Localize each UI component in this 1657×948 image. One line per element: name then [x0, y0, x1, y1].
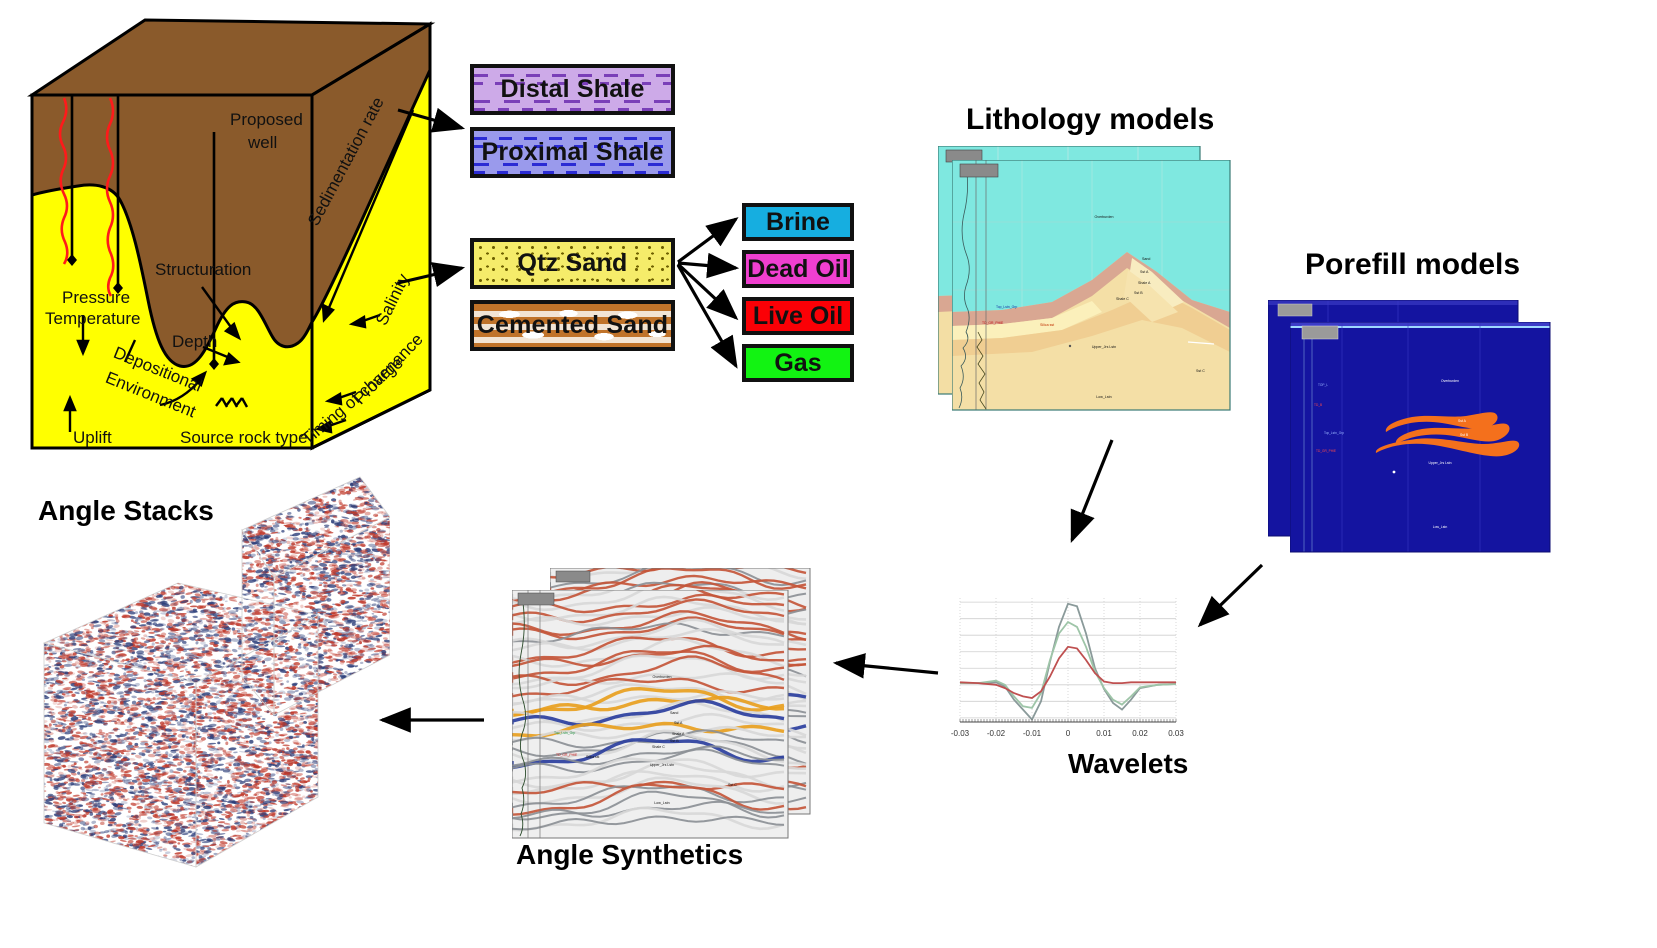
caption-wavelets: Wavelets: [1068, 748, 1188, 780]
svg-text:Sst C: Sst C: [1196, 369, 1205, 373]
svg-text:TD_GR_PHIE: TD_GR_PHIE: [1316, 449, 1336, 453]
caption-lithology-models: Lithology models: [966, 103, 1214, 137]
angle-synthetics-front: Overburden Sand Sst A Shale A Sst B Shal…: [512, 590, 812, 860]
svg-text:Low_Lstn: Low_Lstn: [1433, 525, 1448, 529]
svg-text:Sand: Sand: [670, 711, 678, 715]
wavelets-chart[interactable]: -0.03-0.02-0.0100.010.020.03: [948, 590, 1188, 755]
facies-label-cemented-sand: Cemented Sand: [477, 311, 669, 340]
facies-label-qtz-sand: Qtz Sand: [518, 249, 628, 278]
facies-label-distal-shale: Distal Shale: [500, 75, 644, 104]
arrow-block-to-shales: [398, 110, 462, 128]
svg-text:Upper_Jrs Lstn: Upper_Jrs Lstn: [1429, 461, 1452, 465]
arrow-sand-to-gas: [678, 265, 736, 366]
svg-text:TD_GR_PHIE: TD_GR_PHIE: [556, 753, 578, 757]
arrow-sand-to-live-oil: [678, 264, 736, 318]
wavelets-tick-0: -0.03: [951, 729, 970, 738]
svg-text:Sst C: Sst C: [728, 783, 737, 787]
svg-text:Sand: Sand: [1142, 257, 1150, 261]
svg-text:Overburden: Overburden: [1441, 379, 1459, 383]
arrow-sand-to-dead-oil: [678, 263, 736, 268]
svg-text:Upper_Jrs Lstn: Upper_Jrs Lstn: [650, 763, 674, 767]
svg-text:Top_Lstn_Grp: Top_Lstn_Grp: [1324, 431, 1344, 435]
arrow-sand-to-brine: [678, 219, 736, 262]
svg-text:TD_B: TD_B: [1314, 403, 1322, 407]
svg-text:Top_Lstn_Grp: Top_Lstn_Grp: [996, 305, 1017, 309]
wavelets-tick-1: -0.02: [987, 729, 1006, 738]
svg-text:Sst A: Sst A: [1458, 419, 1467, 423]
wavelets-tick-5: 0.02: [1132, 729, 1148, 738]
svg-text:Top_Lstn_Grp: Top_Lstn_Grp: [554, 731, 575, 735]
svg-text:Silica sst: Silica sst: [1040, 323, 1054, 327]
svg-text:Sst B: Sst B: [1460, 433, 1469, 437]
wavelets-tick-3: 0: [1066, 729, 1071, 738]
svg-text:Sst A: Sst A: [674, 721, 683, 725]
wavelets-tick-2: -0.01: [1023, 729, 1042, 738]
arrow-lithology-to-wavelets: [1072, 440, 1112, 540]
svg-text:Sst B: Sst B: [670, 739, 679, 743]
svg-text:Shale C: Shale C: [652, 745, 665, 749]
facies-label-proximal-shale: Proximal Shale: [481, 138, 663, 167]
svg-text:Overburden: Overburden: [1095, 215, 1114, 219]
lithology-panel-front: Overburden Sand Sst A Shale A Sst B Shal…: [952, 160, 1252, 430]
angle-stacks-svg: [30, 455, 390, 895]
svg-text:Low_Lstn: Low_Lstn: [1096, 395, 1111, 399]
arrow-porefill-to-wavelets: [1200, 565, 1262, 625]
wavelets-tick-6: 0.03: [1168, 729, 1184, 738]
porefill-panel-front: Overburden Sst A Sst B Upper_Jrs Lstn Lo…: [1290, 322, 1580, 582]
angle-stacks-cubes[interactable]: [30, 455, 390, 900]
svg-text:Shale A: Shale A: [672, 732, 685, 736]
wavelets-tick-4: 0.01: [1096, 729, 1112, 738]
arrow-wavelets-to-synthetics: [836, 663, 938, 673]
caption-porefill-models: Porefill models: [1305, 248, 1520, 282]
svg-text:TD_GR_PHIE: TD_GR_PHIE: [982, 321, 1004, 325]
svg-text:Low_Lstn: Low_Lstn: [654, 801, 669, 805]
svg-text:Sst B: Sst B: [1134, 291, 1143, 295]
workflow-diagram: Proposed well Sedimentation rate Salinit…: [0, 0, 1657, 948]
svg-text:Upper_Jrs Lstn: Upper_Jrs Lstn: [1092, 345, 1116, 349]
svg-text:Silica sst: Silica sst: [586, 755, 599, 759]
wavelets-plot: -0.03-0.02-0.0100.010.020.03: [948, 590, 1188, 750]
svg-text:Sst A: Sst A: [1140, 270, 1149, 274]
arrow-block-to-sands: [398, 268, 462, 283]
svg-text:TOP_L: TOP_L: [1318, 383, 1328, 387]
svg-text:Shale A: Shale A: [1138, 281, 1151, 285]
svg-text:Shale C: Shale C: [1116, 297, 1129, 301]
caption-angle-synthetics: Angle Synthetics: [516, 839, 743, 871]
svg-text:Overburden: Overburden: [653, 675, 672, 679]
